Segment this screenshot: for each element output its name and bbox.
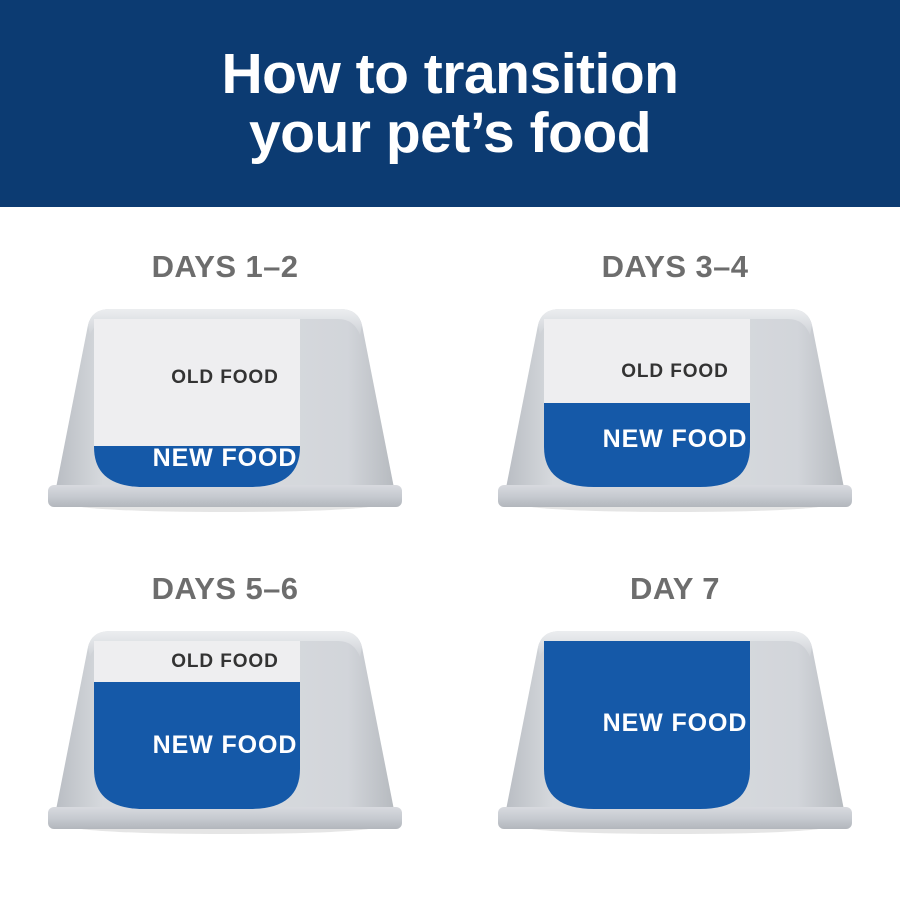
food-bowl-illustration-4: NEW FOOD	[488, 621, 862, 843]
bowl-graphic-3	[38, 621, 412, 843]
food-bowl-illustration-3: OLD FOOD NEW FOOD	[38, 621, 412, 843]
step-label-days-5-6: DAYS 5–6	[152, 571, 299, 607]
transition-step-2: DAYS 3–4	[450, 207, 900, 553]
step-label-days-1-2: DAYS 1–2	[152, 249, 299, 285]
transition-steps-grid: DAYS 1–2	[0, 207, 900, 900]
header-banner: How to transition your pet’s food	[0, 0, 900, 207]
transition-step-1: DAYS 1–2	[0, 207, 450, 553]
transition-step-4: DAY 7	[450, 553, 900, 900]
step-label-days-3-4: DAYS 3–4	[602, 249, 749, 285]
step-label-day-7: DAY 7	[630, 571, 720, 607]
bowl-graphic-1	[38, 299, 412, 521]
bowl-graphic-2	[488, 299, 862, 521]
bowl-graphic-4	[488, 621, 862, 843]
page-title: How to transition your pet’s food	[202, 45, 699, 161]
transition-step-3: DAYS 5–6	[0, 553, 450, 900]
food-bowl-illustration-1: OLD FOOD NEW FOOD	[38, 299, 412, 521]
food-bowl-illustration-2: OLD FOOD NEW FOOD	[488, 299, 862, 521]
